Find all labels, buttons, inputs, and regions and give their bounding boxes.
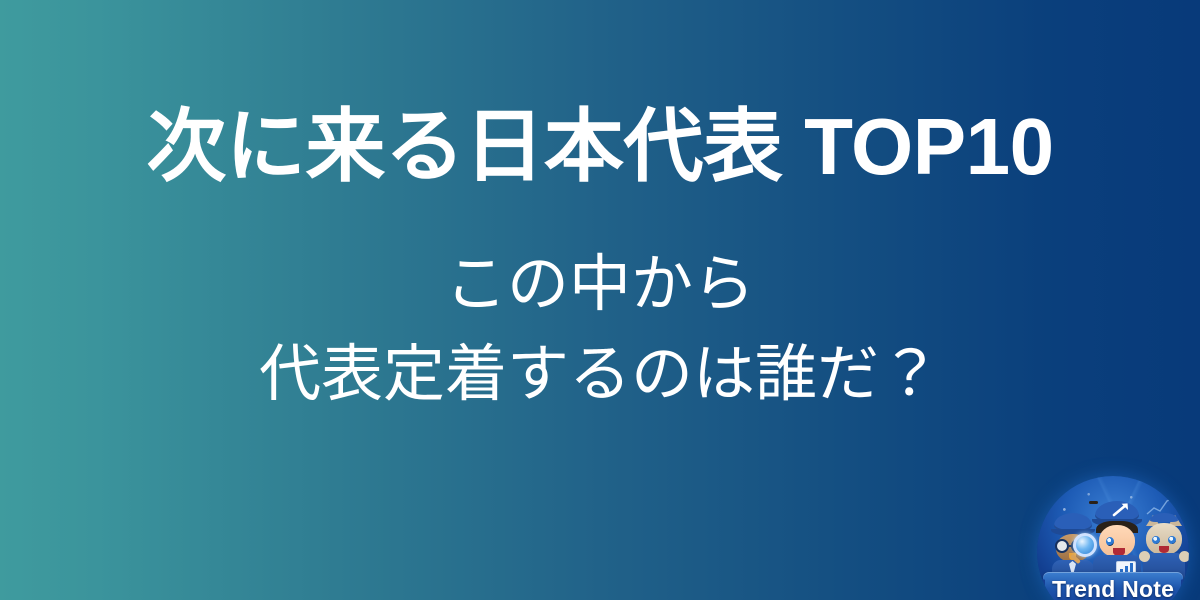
subtitle: この中から 代表定着するのは誰だ？ bbox=[259, 242, 941, 417]
logo-ribbon: Trend Note bbox=[1043, 572, 1183, 600]
boy-eye-right-wink-icon bbox=[1089, 501, 1098, 504]
banner-thumbnail: 次に来る日本代表 TOP10 この中から 代表定着するのは誰だ？ bbox=[0, 0, 1200, 600]
brand-name: Trend Note bbox=[1052, 576, 1174, 600]
cat-eye-left-icon bbox=[1152, 536, 1160, 544]
logo-characters bbox=[1037, 493, 1189, 579]
trend-note-logo[interactable]: Trend Note bbox=[1037, 476, 1189, 600]
boy-character-icon bbox=[1089, 501, 1145, 583]
page-title: 次に来る日本代表 TOP10 bbox=[146, 104, 1053, 190]
cat-hat-icon bbox=[1150, 513, 1178, 522]
boy-eye-left-icon bbox=[1106, 537, 1114, 546]
text-stack: 次に来る日本代表 TOP10 この中から 代表定着するのは誰だ？ bbox=[0, 0, 1200, 600]
cat-paw-left-icon bbox=[1139, 551, 1150, 562]
cat-mouth-icon bbox=[1159, 546, 1169, 553]
up-arrow-icon bbox=[1111, 502, 1131, 518]
subtitle-line-2: 代表定着するのは誰だ？ bbox=[259, 332, 941, 418]
cat-paw-right-icon bbox=[1179, 551, 1189, 562]
subtitle-line-1: この中から bbox=[259, 242, 941, 328]
cat-eye-right-icon bbox=[1168, 536, 1176, 544]
